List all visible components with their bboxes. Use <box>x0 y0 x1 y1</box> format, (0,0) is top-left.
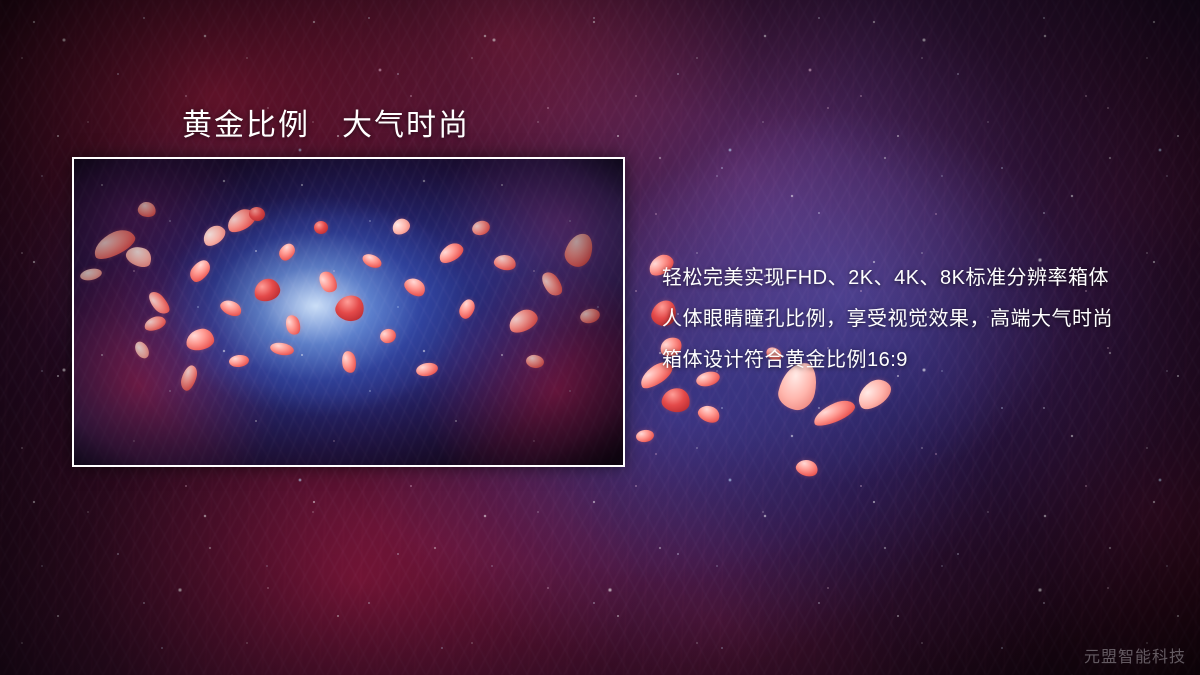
framed-nebula-picture <box>72 157 625 467</box>
body-text-line: 轻松完美实现FHD、2K、4K、8K标准分辨率箱体 <box>662 258 1182 299</box>
watermark: 元盟智能科技 <box>1084 643 1186 667</box>
presentation-slide: 黄金比例 大气时尚 轻松完美实现FHD、2K、4K、8K标准分辨率箱体 人体眼睛… <box>0 0 1200 675</box>
page-title: 黄金比例 大气时尚 <box>182 100 470 144</box>
body-text-line: 人体眼睛瞳孔比例，享受视觉效果，高端大气时尚 <box>662 299 1182 340</box>
picture-vignette <box>74 159 623 465</box>
picture-inner <box>74 159 623 465</box>
body-text-line: 箱体设计符合黄金比例16:9 <box>662 340 1182 381</box>
body-text-block: 轻松完美实现FHD、2K、4K、8K标准分辨率箱体 人体眼睛瞳孔比例，享受视觉效… <box>662 258 1182 381</box>
